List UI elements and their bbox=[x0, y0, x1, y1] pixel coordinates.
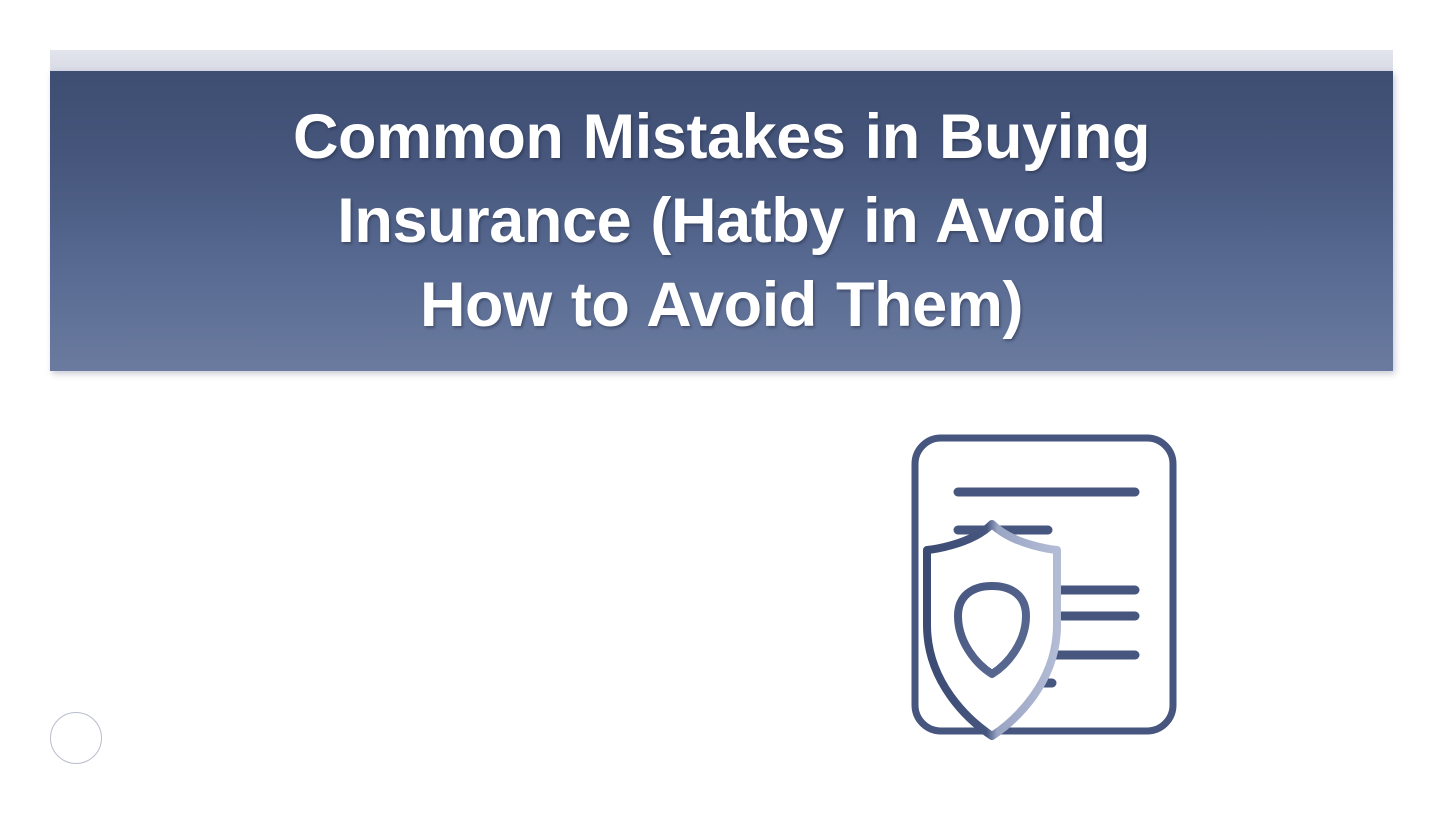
title-banner: Common Mistakes in Buying Insurance (Hat… bbox=[50, 50, 1393, 371]
slide-canvas: Common Mistakes in Buying Insurance (Hat… bbox=[0, 0, 1440, 816]
page-title: Common Mistakes in Buying Insurance (Hat… bbox=[142, 95, 1302, 347]
banner-top-accent-strip bbox=[50, 50, 1393, 71]
title-line-2: Insurance (Hatby in Avoid bbox=[337, 186, 1105, 256]
title-line-3: How to Avoid Them) bbox=[420, 270, 1023, 340]
shield-mask bbox=[927, 524, 1057, 736]
title-line-1: Common Mistakes in Buying bbox=[293, 102, 1150, 172]
insurance-document-shield-icon bbox=[820, 420, 1220, 780]
illustration-svg bbox=[820, 420, 1220, 780]
banner-body: Common Mistakes in Buying Insurance (Hat… bbox=[50, 71, 1393, 371]
decorative-circle bbox=[50, 712, 102, 764]
